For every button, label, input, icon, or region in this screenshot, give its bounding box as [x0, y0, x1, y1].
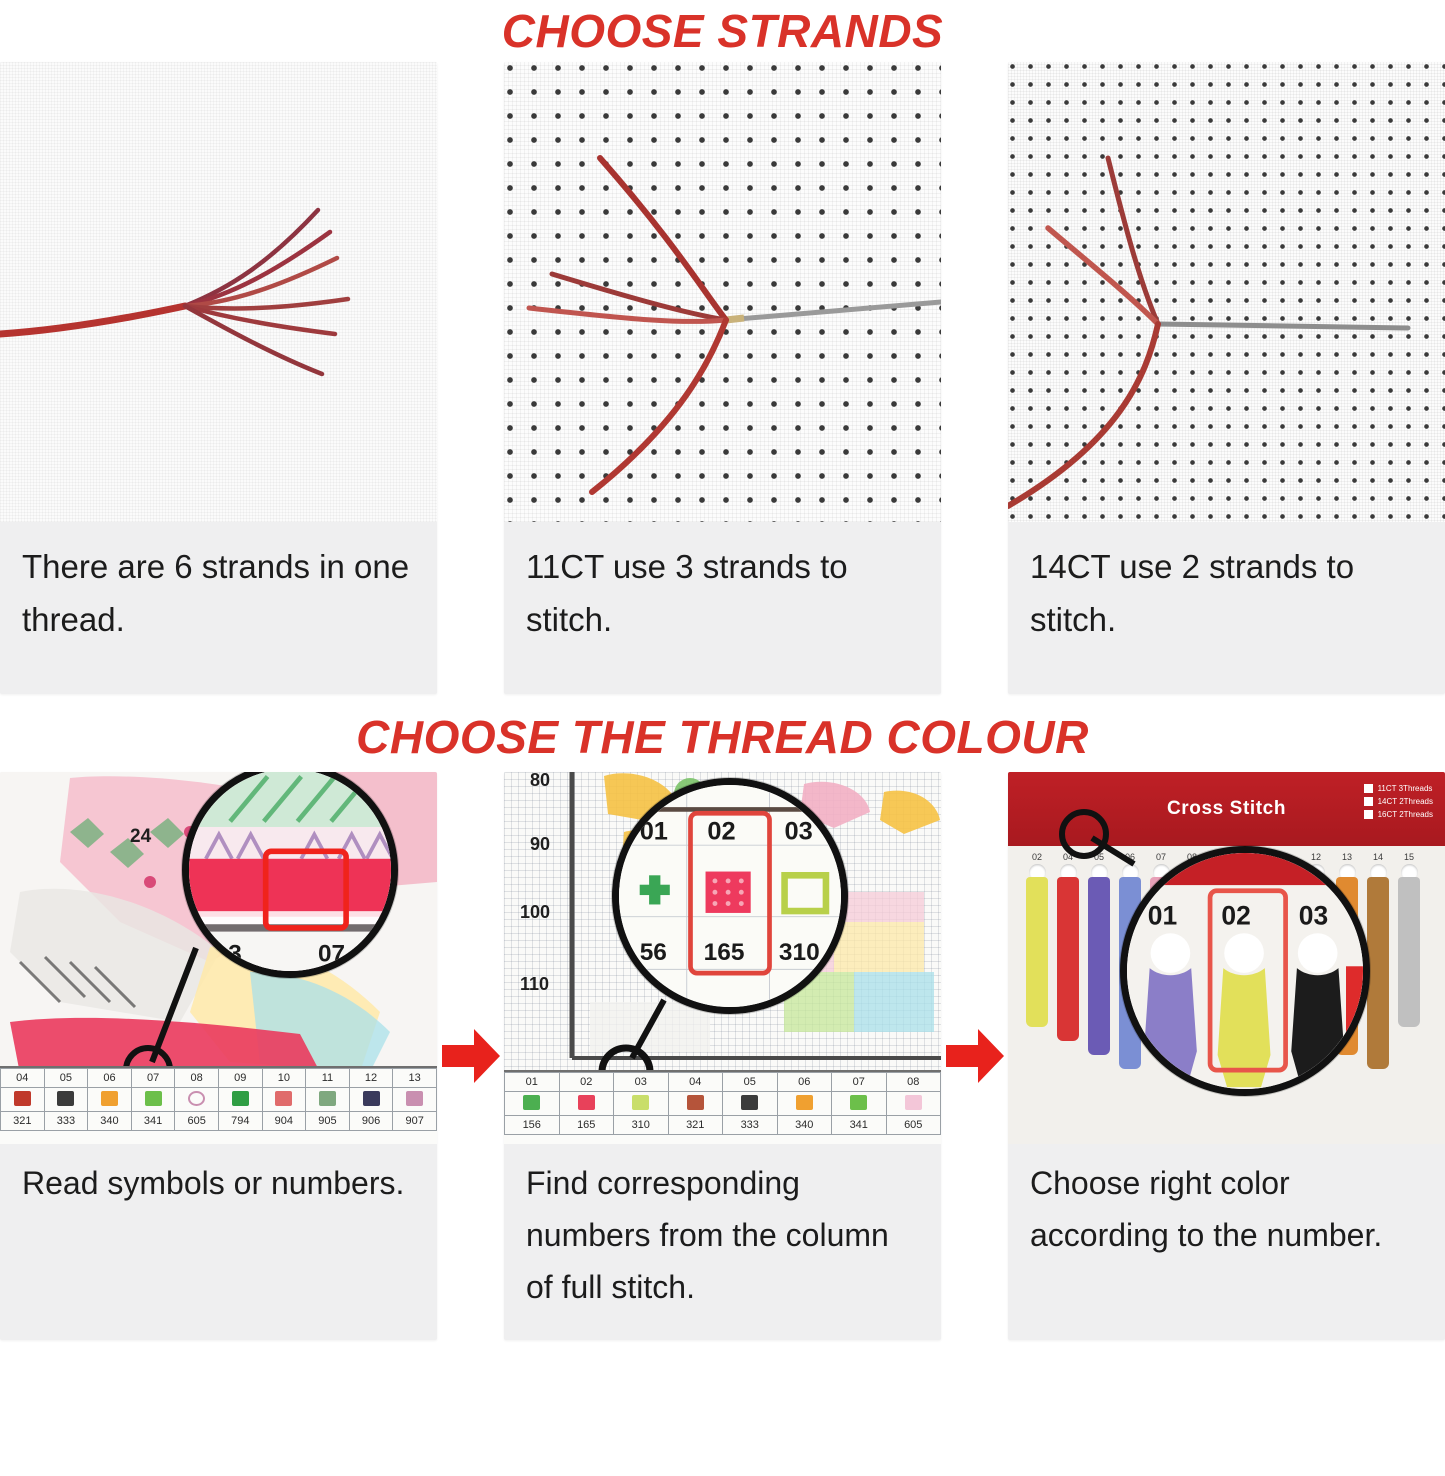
thread-skein: 04	[1055, 850, 1081, 1041]
legend-symbol-swatch	[850, 1095, 867, 1110]
legend-symbol-cell	[88, 1088, 132, 1112]
organizer-checkbox-row[interactable]: 14CT 2Threads	[1364, 797, 1433, 806]
legend-symbol-swatch	[632, 1095, 649, 1110]
skein-number-label: 15	[1396, 850, 1422, 864]
magnifier-icon: 01 02 03	[1120, 846, 1370, 1096]
legend-code-cell: 341	[832, 1116, 887, 1135]
organizer-checkbox-label: 14CT 2Threads	[1378, 797, 1433, 806]
card-caption: Find corresponding numbers from the colu…	[504, 1144, 941, 1340]
card-read-symbols: 24 02	[0, 772, 437, 1340]
legend-symbol-swatch	[275, 1091, 292, 1106]
legend-symbol-row	[505, 1092, 941, 1116]
legend-number-cell: 05	[723, 1073, 778, 1092]
legend-number-cell: 03	[614, 1073, 669, 1092]
legend-symbol-cell	[306, 1088, 350, 1112]
svg-text:80: 80	[530, 772, 550, 790]
legend-code-cell: 165	[559, 1116, 614, 1135]
14ct-needle-photo	[1008, 62, 1445, 522]
legend-symbol-cell	[559, 1092, 614, 1116]
skein-floss	[1088, 877, 1110, 1055]
svg-text:310: 310	[779, 939, 820, 966]
legend-table: 0102030405060708 15616531032133334034160…	[504, 1072, 941, 1135]
svg-text:3: 3	[228, 941, 242, 968]
magnifier-icon: 01 02 03 56 165 310	[612, 778, 848, 1014]
legend-symbol-row	[1, 1088, 437, 1112]
checkbox-icon[interactable]	[1364, 797, 1373, 806]
six-strands-photo	[0, 62, 437, 522]
strands-card-row: There are 6 strands in one thread. 11CT …	[0, 62, 1445, 694]
legend-table: 04050607080910111213 3213333403416057949…	[0, 1068, 437, 1131]
card-choose-color: Cross Stitch 11CT 3Threads14CT 2Threads1…	[1008, 772, 1445, 1340]
card-14ct: 14CT use 2 strands to stitch.	[1008, 62, 1445, 694]
legend-symbol-swatch	[578, 1095, 595, 1110]
legend-symbol-cell	[44, 1088, 88, 1112]
two-strands-needle-illustration	[1008, 62, 1445, 522]
legend-number-cell: 05	[44, 1069, 88, 1088]
legend-code-cell: 340	[777, 1116, 832, 1135]
legend-symbol-cell	[614, 1092, 669, 1116]
card-caption: Read symbols or numbers.	[0, 1144, 437, 1340]
svg-text:01: 01	[1148, 901, 1177, 931]
organizer-checkbox-row[interactable]: 11CT 3Threads	[1364, 784, 1433, 793]
organizer-checkbox-label: 11CT 3Threads	[1378, 784, 1433, 793]
legend-symbol-cell	[668, 1092, 723, 1116]
legend-code-cell: 794	[218, 1112, 262, 1131]
legend-code-cell: 907	[393, 1112, 437, 1131]
card-caption: 14CT use 2 strands to stitch.	[1008, 522, 1445, 694]
magnified-organizer-view: 01 02 03	[1127, 853, 1363, 1089]
card-caption: Choose right color according to the numb…	[1008, 1144, 1445, 1340]
pattern-legend-strip: 0102030405060708 15616531032133334034160…	[504, 1070, 941, 1144]
legend-number-cell: 01	[505, 1073, 560, 1092]
legend-symbol-cell	[832, 1092, 887, 1116]
svg-text:02: 02	[1221, 901, 1250, 931]
skein-number-label: 02	[1024, 850, 1050, 864]
svg-text:03: 03	[785, 818, 813, 846]
legend-symbol-swatch	[905, 1095, 922, 1110]
legend-code-row: 156165310321333340341605	[505, 1116, 941, 1135]
legend-code-cell: 605	[886, 1116, 941, 1135]
legend-number-cell: 06	[88, 1069, 132, 1088]
legend-code-cell: 310	[614, 1116, 669, 1135]
skein-number-label: 14	[1365, 850, 1391, 864]
right-arrow-icon-1	[440, 1021, 502, 1091]
pattern-symbols-photo: 24 02	[0, 772, 437, 1144]
skein-floss	[1398, 877, 1420, 1027]
legend-symbol-cell	[218, 1088, 262, 1112]
legend-code-cell: 333	[723, 1116, 778, 1135]
card-caption: There are 6 strands in one thread.	[0, 522, 437, 694]
legend-symbol-swatch	[523, 1095, 540, 1110]
card-caption: 11CT use 3 strands to stitch.	[504, 522, 941, 694]
legend-number-cell: 10	[262, 1069, 306, 1088]
svg-text:110: 110	[520, 974, 549, 994]
skein-number-label: 05	[1086, 850, 1112, 864]
six-strands-illustration	[0, 62, 437, 522]
svg-text:90: 90	[530, 834, 550, 854]
organizer-checkbox-list: 11CT 3Threads14CT 2Threads16CT 2Threads	[1364, 784, 1433, 823]
legend-symbol-swatch	[101, 1091, 118, 1106]
legend-symbol-cell	[1, 1088, 45, 1112]
svg-text:02: 02	[707, 818, 735, 846]
card-11ct: 11CT use 3 strands to stitch.	[504, 62, 941, 694]
legend-code-cell: 156	[505, 1116, 560, 1135]
legend-symbol-swatch	[319, 1091, 336, 1106]
thread-skein: 05	[1086, 850, 1112, 1055]
legend-number-cell: 07	[832, 1073, 887, 1092]
svg-text:24: 24	[130, 826, 152, 847]
legend-number-cell: 09	[218, 1069, 262, 1088]
legend-symbol-cell	[505, 1092, 560, 1116]
legend-code-cell: 340	[88, 1112, 132, 1131]
legend-number-cell: 13	[393, 1069, 437, 1088]
card-six-strands: There are 6 strands in one thread.	[0, 62, 437, 694]
legend-number-cell: 12	[349, 1069, 393, 1088]
svg-text:07: 07	[318, 941, 345, 968]
legend-symbol-swatch	[363, 1091, 380, 1106]
legend-symbol-swatch	[232, 1091, 249, 1106]
card-find-numbers: 80 90 100 110	[504, 772, 941, 1340]
magnifier-icon: 3 07	[182, 772, 398, 978]
magnified-pattern-view: 3 07	[189, 772, 391, 971]
legend-number-cell: 07	[131, 1069, 175, 1088]
organizer-checkbox-row[interactable]: 16CT 2Threads	[1364, 810, 1433, 819]
legend-code-cell: 904	[262, 1112, 306, 1131]
legend-number-cell: 04	[1, 1069, 45, 1088]
magnified-chart-view: 01 02 03 56 165 310	[619, 785, 841, 1007]
legend-symbol-swatch	[188, 1091, 205, 1106]
legend-number-cell: 08	[886, 1073, 941, 1092]
legend-code-cell: 333	[44, 1112, 88, 1131]
legend-symbol-swatch	[145, 1091, 162, 1106]
right-arrow-icon-2	[944, 1021, 1006, 1091]
section-heading-choose-strands: CHOOSE STRANDS	[0, 0, 1445, 62]
checkbox-icon[interactable]	[1364, 810, 1373, 819]
legend-symbol-cell	[393, 1088, 437, 1112]
legend-symbol-cell	[886, 1092, 941, 1116]
svg-text:100: 100	[520, 902, 550, 922]
legend-symbol-swatch	[57, 1091, 74, 1106]
legend-number-cell: 11	[306, 1069, 350, 1088]
thread-organizer-photo: Cross Stitch 11CT 3Threads14CT 2Threads1…	[1008, 772, 1445, 1144]
organizer-checkbox-label: 16CT 2Threads	[1378, 810, 1433, 819]
thread-skein: 15	[1396, 850, 1422, 1027]
pattern-legend-strip: 04050607080910111213 3213333403416057949…	[0, 1066, 437, 1144]
legend-number-cell: 08	[175, 1069, 219, 1088]
legend-code-cell: 341	[131, 1112, 175, 1131]
svg-text:165: 165	[704, 939, 745, 966]
legend-code-cell: 605	[175, 1112, 219, 1131]
legend-code-cell: 906	[349, 1112, 393, 1131]
svg-text:56: 56	[640, 939, 667, 966]
skein-number-label: 04	[1055, 850, 1081, 864]
svg-text:01: 01	[640, 818, 668, 846]
skein-floss	[1367, 877, 1389, 1069]
legend-symbol-cell	[262, 1088, 306, 1112]
legend-symbol-cell	[131, 1088, 175, 1112]
section-heading-choose-thread-colour: CHOOSE THE THREAD COLOUR	[0, 702, 1445, 772]
legend-symbol-swatch	[14, 1091, 31, 1106]
11ct-needle-photo	[504, 62, 941, 522]
legend-symbol-cell	[777, 1092, 832, 1116]
legend-symbol-swatch	[741, 1095, 758, 1110]
legend-symbol-cell	[349, 1088, 393, 1112]
brand-title: Cross Stitch	[1167, 798, 1286, 820]
legend-number-cell: 04	[668, 1073, 723, 1092]
legend-symbol-swatch	[687, 1095, 704, 1110]
legend-code-cell: 321	[668, 1116, 723, 1135]
legend-code-cell: 905	[306, 1112, 350, 1131]
legend-code-row: 321333340341605794904905906907	[1, 1112, 437, 1131]
skein-floss	[1026, 877, 1048, 1027]
legend-symbol-cell	[175, 1088, 219, 1112]
legend-symbol-cell	[723, 1092, 778, 1116]
organizer-banner: Cross Stitch 11CT 3Threads14CT 2Threads1…	[1008, 772, 1445, 846]
svg-text:03: 03	[1299, 901, 1328, 931]
legend-number-cell: 02	[559, 1073, 614, 1092]
legend-number-row: 0102030405060708	[505, 1073, 941, 1092]
colour-card-row: 24 02	[0, 772, 1445, 1340]
pattern-chart-photo: 80 90 100 110	[504, 772, 941, 1144]
thread-skein: 02	[1024, 850, 1050, 1027]
legend-code-cell: 321	[1, 1112, 45, 1131]
legend-symbol-swatch	[796, 1095, 813, 1110]
three-strands-needle-illustration	[504, 62, 941, 522]
skein-floss	[1057, 877, 1079, 1041]
checkbox-icon[interactable]	[1364, 784, 1373, 793]
legend-number-row: 04050607080910111213	[1, 1069, 437, 1088]
legend-number-cell: 06	[777, 1073, 832, 1092]
legend-symbol-swatch	[406, 1091, 423, 1106]
